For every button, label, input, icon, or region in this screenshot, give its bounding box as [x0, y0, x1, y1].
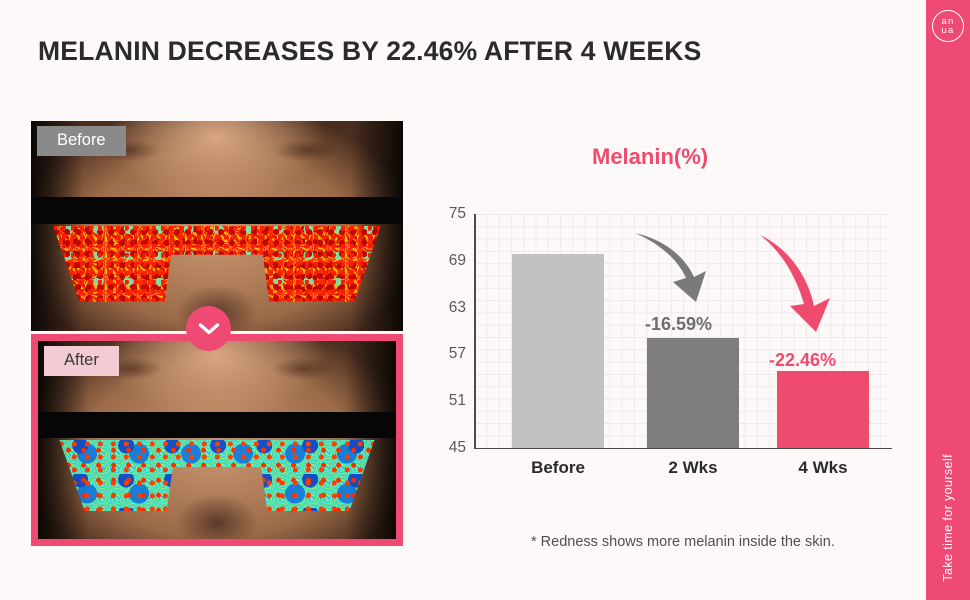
y-axis-tick: 45	[426, 439, 466, 457]
decrease-arrow-2wks-icon	[632, 229, 722, 314]
melanin-bar-chart: 75 69 63 57 51 45 -16.59% -22.46% Before…	[432, 205, 892, 455]
y-axis-line	[474, 214, 476, 448]
decrease-arrow-4wks-icon	[754, 232, 854, 332]
x-axis-label-4wks: 4 Wks	[765, 458, 881, 478]
y-axis-tick: 69	[426, 252, 466, 270]
delta-label-2wks: -16.59%	[645, 314, 712, 335]
x-axis-label-before: Before	[500, 458, 616, 478]
chart-footnote: * Redness shows more melanin inside the …	[531, 534, 835, 550]
before-after-photo-panel: Before After	[31, 121, 403, 546]
chevron-down-icon	[186, 306, 231, 351]
page-title: MELANIN DECREASES BY 22.46% AFTER 4 WEEK…	[38, 36, 701, 67]
brand-sidebar: an ua Take time for yourself	[926, 0, 970, 600]
eye-censor-bar	[38, 412, 396, 438]
y-axis-tick: 51	[426, 392, 466, 410]
before-photo-card: Before	[31, 121, 403, 331]
bar-4wks	[777, 371, 869, 448]
y-axis-tick: 75	[426, 205, 466, 223]
before-label-tag: Before	[37, 126, 126, 156]
x-axis-label-2wks: 2 Wks	[635, 458, 751, 478]
y-axis-tick: 57	[426, 345, 466, 363]
infographic-page: MELANIN DECREASES BY 22.46% AFTER 4 WEEK…	[0, 0, 970, 600]
eye-censor-bar	[31, 197, 403, 224]
logo-line-2: ua	[942, 26, 955, 35]
bar-2wks	[647, 338, 739, 448]
after-label-tag: After	[44, 346, 119, 376]
y-axis-tick: 63	[426, 299, 466, 317]
anua-logo-icon: an ua	[932, 10, 964, 42]
brand-tagline: Take time for yourself	[941, 454, 955, 582]
chart-title: Melanin(%)	[592, 144, 708, 170]
after-photo-card: After	[31, 334, 403, 546]
delta-label-4wks: -22.46%	[769, 350, 836, 371]
bar-before	[512, 254, 604, 448]
